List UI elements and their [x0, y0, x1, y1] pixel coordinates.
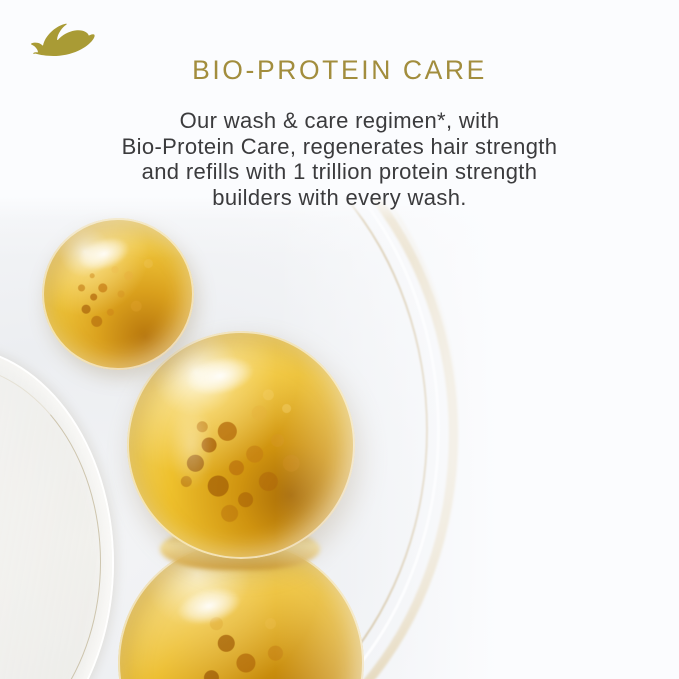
body-copy: Our wash & care regimen*, with Bio-Prote…	[0, 108, 679, 210]
body-line-4: builders with every wash.	[0, 185, 679, 211]
body-line-3: and refills with 1 trillion protein stre…	[0, 159, 679, 185]
promo-banner: BIO-PROTEIN CARE Our wash & care regimen…	[0, 0, 679, 679]
body-line-1: Our wash & care regimen*, with	[0, 108, 679, 134]
dove-bird-icon	[31, 20, 105, 62]
page-title: BIO-PROTEIN CARE	[0, 57, 679, 84]
product-photo	[0, 196, 500, 679]
oil-sphere-small	[42, 218, 194, 370]
body-line-2: Bio-Protein Care, regenerates hair stren…	[0, 134, 679, 160]
oil-sphere-large	[127, 331, 355, 559]
